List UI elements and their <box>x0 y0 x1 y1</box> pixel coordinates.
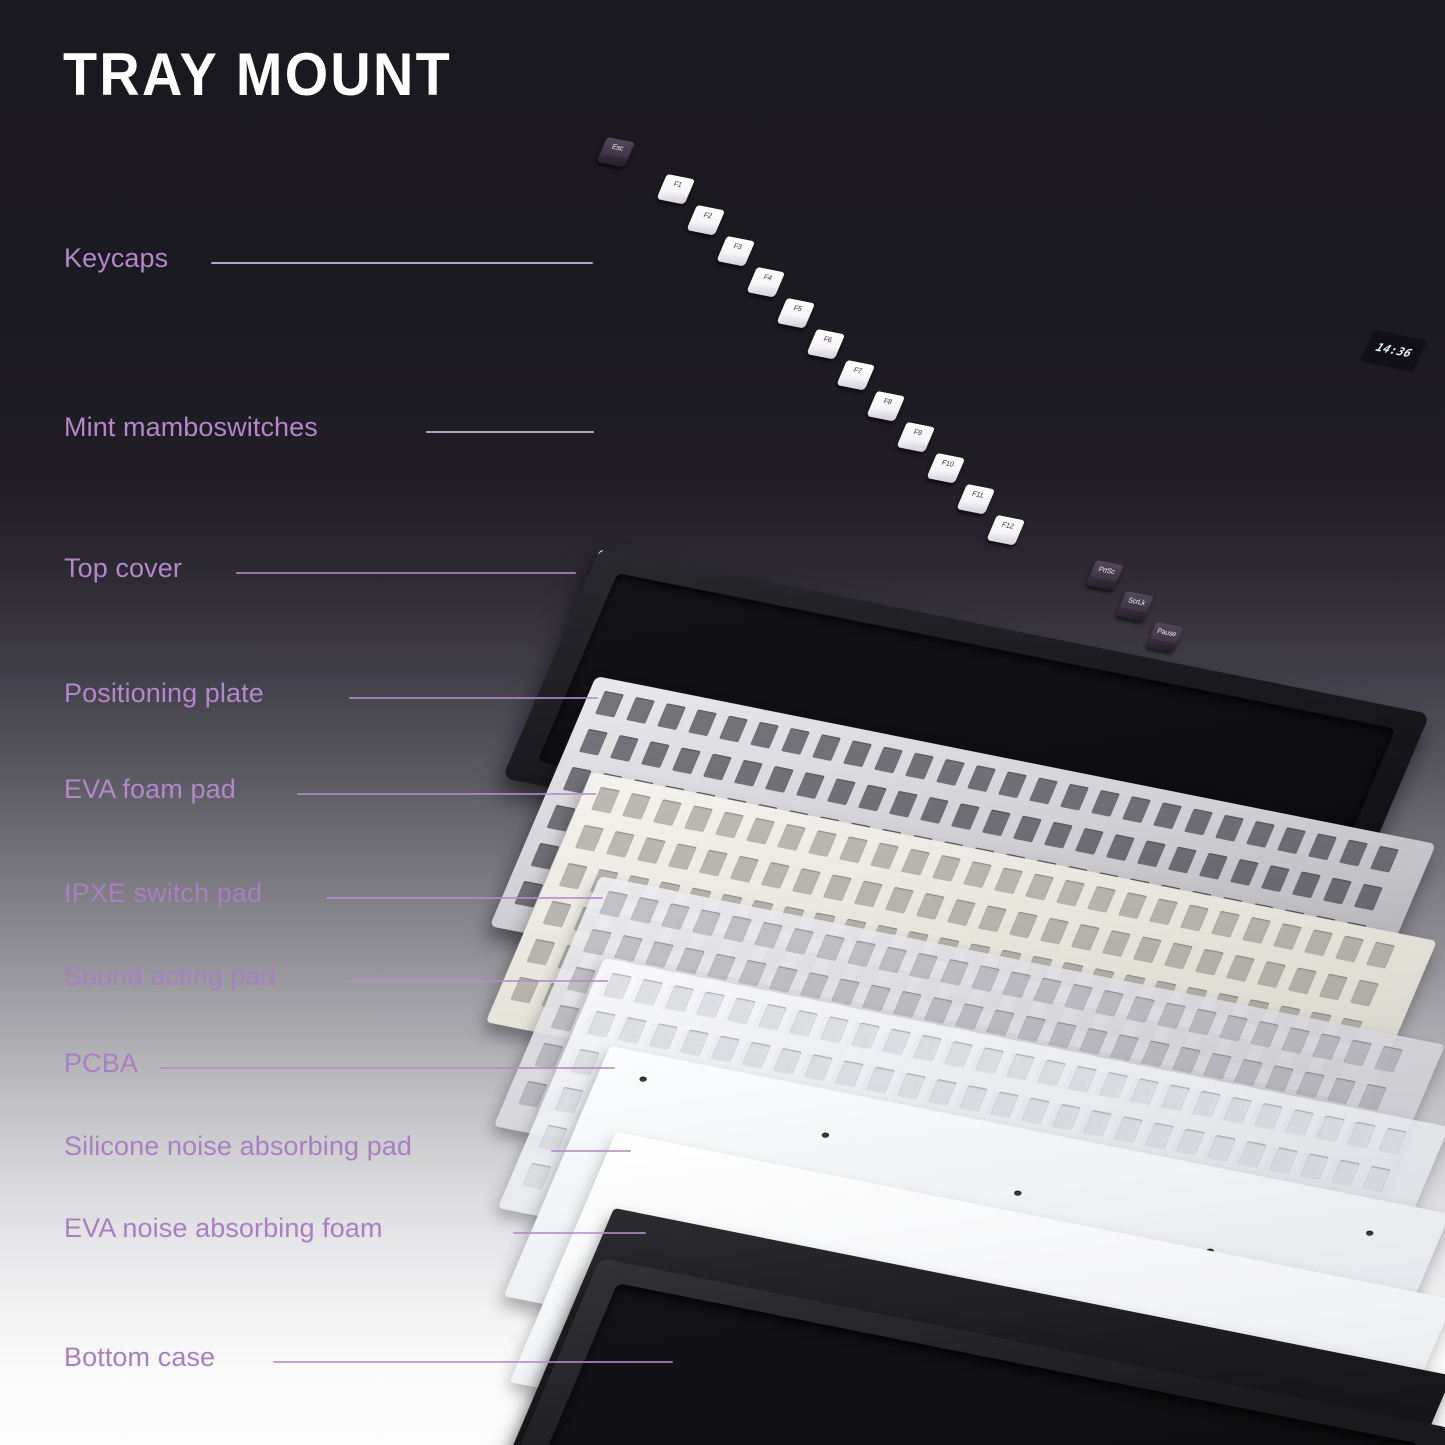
callout-leader-line <box>297 793 596 795</box>
callout-leader-line <box>160 1067 615 1069</box>
pcb-screen-module: 14:36 <box>1361 330 1426 370</box>
keycap: F3 <box>717 236 756 267</box>
keycap: F6 <box>807 329 846 360</box>
callout-label: Sound acting pad <box>64 963 276 990</box>
callout-leader-line <box>211 262 593 264</box>
callout-label: Keycaps <box>64 245 168 272</box>
callout-label: Positioning plate <box>64 680 264 707</box>
callout-label: Mint mamboswitches <box>64 414 318 441</box>
callout-leader-line <box>551 1150 631 1152</box>
callout-leader-line <box>426 431 594 433</box>
callout-label: PCBA <box>64 1050 138 1077</box>
exploded-view-diagram: EscF1F2F3F4F5F6F7F8F9F10F11F12PrtScScrLk… <box>0 0 1445 1445</box>
keycap: F9 <box>897 422 936 453</box>
callout-leader-line <box>326 897 603 899</box>
keycap: F11 <box>957 484 996 515</box>
keycap: ScrLk <box>1116 591 1155 622</box>
callout-leader-line <box>236 572 576 574</box>
page-title: TRAY MOUNT <box>63 45 452 105</box>
callout-label: EVA foam pad <box>64 776 236 803</box>
keycap: F4 <box>747 267 786 298</box>
keycap: Esc <box>597 137 636 168</box>
pcb-screw-hole <box>1365 1230 1374 1236</box>
keycap: F7 <box>837 360 876 391</box>
callout-label: Bottom case <box>64 1344 215 1371</box>
pcb-screw-hole <box>1013 1190 1022 1196</box>
keycap: Pause <box>1146 622 1185 653</box>
callout-label: Silicone noise absorbing pad <box>64 1133 412 1160</box>
keycap: F10 <box>927 453 966 484</box>
keycap: PrtSc <box>1086 560 1125 591</box>
keycap: F12 <box>987 515 1026 546</box>
keycap: F1 <box>657 174 696 205</box>
callout-label: EVA noise absorbing foam <box>64 1215 383 1242</box>
pcb-screw-hole <box>639 1076 648 1082</box>
keycap: F8 <box>867 391 906 422</box>
keycap: F5 <box>777 298 816 329</box>
callout-label: IPXE switch pad <box>64 880 262 907</box>
callout-label: Top cover <box>64 555 182 582</box>
screen-text: 14:36 <box>1372 341 1415 360</box>
callout-leader-line <box>513 1232 646 1234</box>
pcb-screw-hole <box>821 1132 830 1138</box>
keycap: F2 <box>687 205 726 236</box>
callout-leader-line <box>273 1361 673 1363</box>
callout-leader-line <box>349 980 608 982</box>
callout-leader-line <box>349 697 598 699</box>
